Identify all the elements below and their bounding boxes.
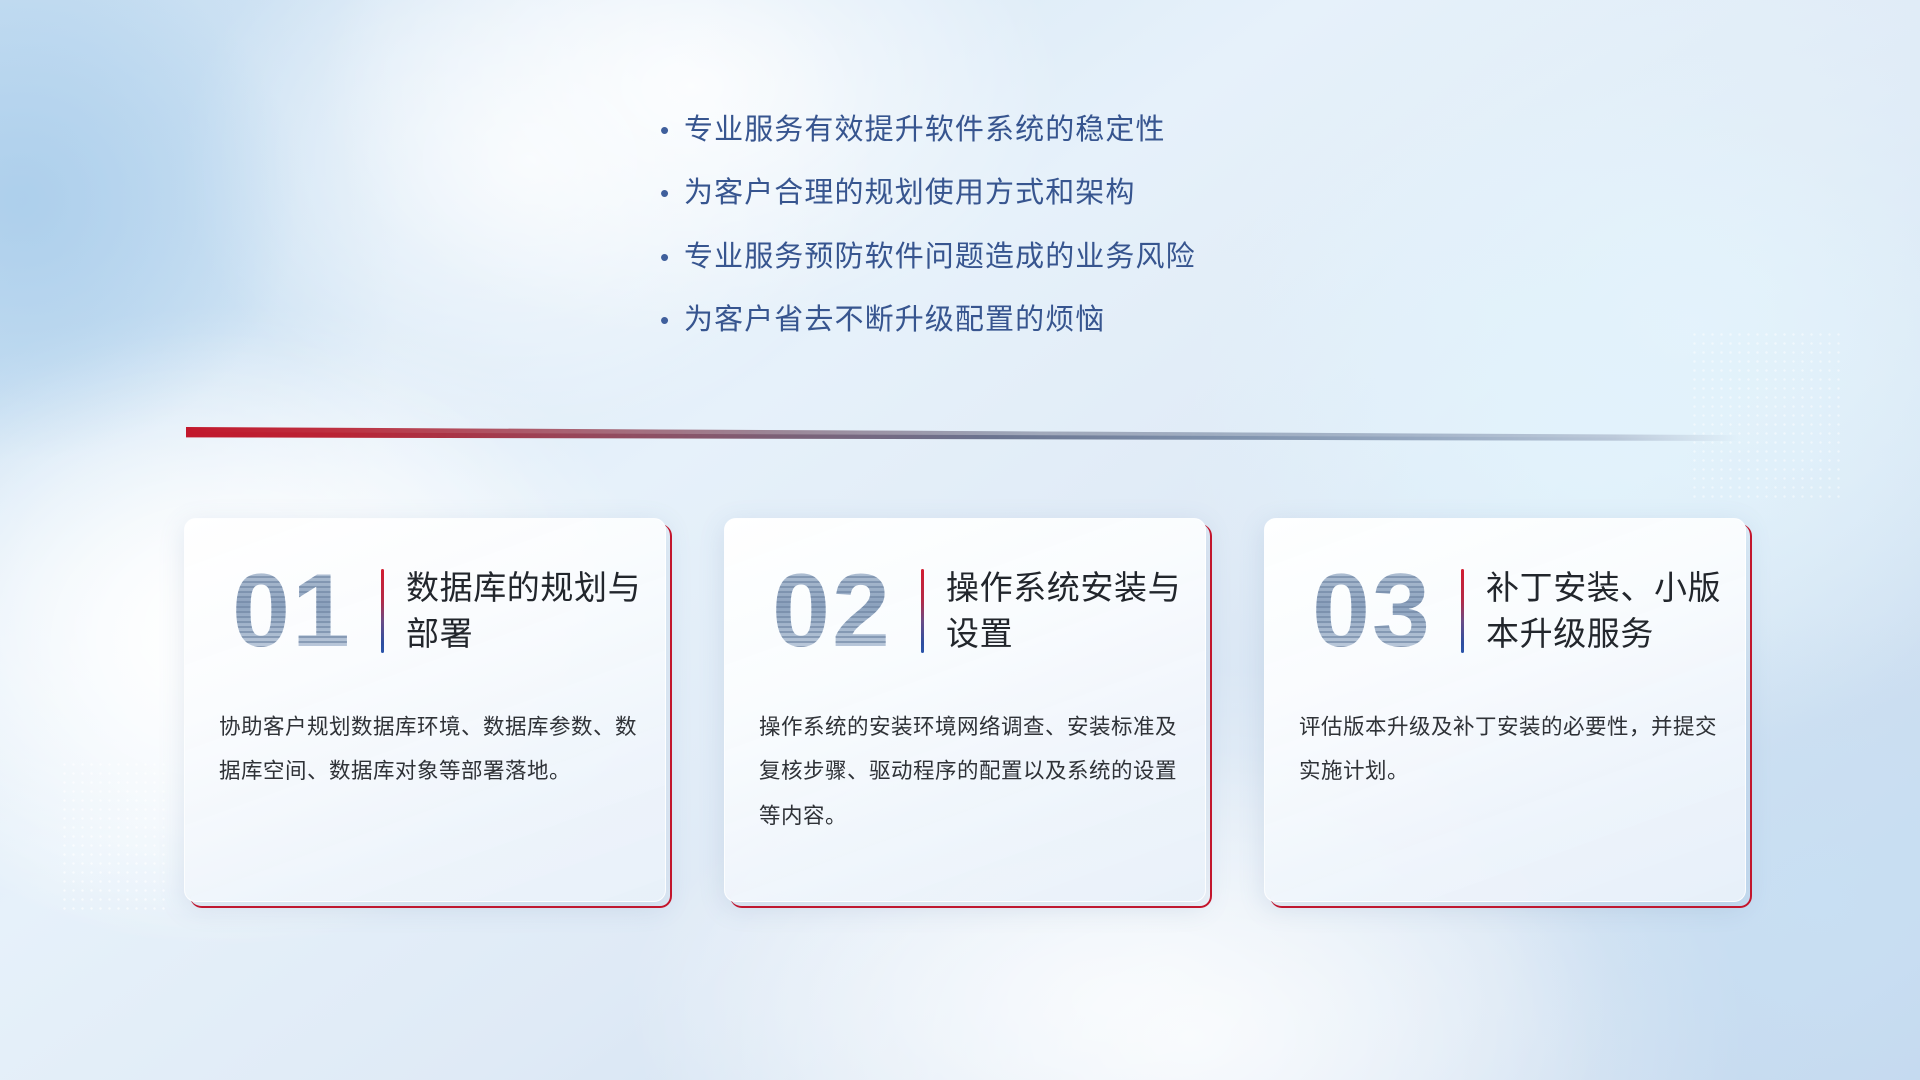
gradient-divider-line bbox=[186, 427, 1739, 441]
decorative-dot-texture bbox=[1690, 330, 1840, 500]
list-item: • 专业服务预防软件问题造成的业务风险 bbox=[660, 239, 1420, 275]
card-title: 操作系统安装与设置 bbox=[946, 565, 1205, 656]
card-header: 02 操作系统安装与设置 bbox=[725, 541, 1205, 681]
bullet-dot-icon: • bbox=[660, 244, 684, 270]
card-description: 操作系统的安装环境网络调查、安装标准及复核步骤、驱动程序的配置以及系统的设置等内… bbox=[759, 705, 1177, 838]
card-surface: 02 操作系统安装与设置 操作系统的安装环境网络调查、安装标准及复核步骤、驱动程… bbox=[724, 518, 1206, 902]
bullet-text: 为客户合理的规划使用方式和架构 bbox=[684, 175, 1136, 211]
card-number: 03 bbox=[1287, 551, 1457, 671]
list-item: • 为客户合理的规划使用方式和架构 bbox=[660, 175, 1420, 211]
service-card-03[interactable]: 03 补丁安装、小版本升级服务 评估版本升级及补丁安装的必要性，并提交实施计划。 bbox=[1264, 518, 1752, 908]
card-header: 03 补丁安装、小版本升级服务 bbox=[1265, 541, 1745, 681]
service-card-01[interactable]: 01 数据库的规划与部署 协助客户规划数据库环境、数据库参数、数据库空间、数据库… bbox=[184, 518, 672, 908]
bullet-text: 为客户省去不断升级配置的烦恼 bbox=[684, 302, 1105, 338]
bullet-dot-icon: • bbox=[660, 307, 684, 333]
benefits-bullet-list: • 专业服务有效提升软件系统的稳定性 • 为客户合理的规划使用方式和架构 • 专… bbox=[660, 112, 1420, 365]
background-glow bbox=[0, 0, 300, 460]
card-divider-icon bbox=[381, 569, 384, 653]
list-item: • 专业服务有效提升软件系统的稳定性 bbox=[660, 112, 1420, 148]
slide-canvas: • 专业服务有效提升软件系统的稳定性 • 为客户合理的规划使用方式和架构 • 专… bbox=[0, 0, 1920, 1080]
card-description: 协助客户规划数据库环境、数据库参数、数据库空间、数据库对象等部署落地。 bbox=[219, 705, 637, 794]
bullet-dot-icon: • bbox=[660, 180, 684, 206]
card-header: 01 数据库的规划与部署 bbox=[185, 541, 665, 681]
card-divider-icon bbox=[921, 569, 924, 653]
list-item: • 为客户省去不断升级配置的烦恼 bbox=[660, 302, 1420, 338]
bullet-text: 专业服务预防软件问题造成的业务风险 bbox=[684, 239, 1196, 275]
bullet-text: 专业服务有效提升软件系统的稳定性 bbox=[684, 112, 1166, 148]
card-number: 01 bbox=[207, 551, 377, 671]
card-title: 数据库的规划与部署 bbox=[406, 565, 665, 656]
card-divider-icon bbox=[1461, 569, 1464, 653]
card-surface: 03 补丁安装、小版本升级服务 评估版本升级及补丁安装的必要性，并提交实施计划。 bbox=[1264, 518, 1746, 902]
card-description: 评估版本升级及补丁安装的必要性，并提交实施计划。 bbox=[1299, 705, 1717, 794]
service-card-list: 01 数据库的规划与部署 协助客户规划数据库环境、数据库参数、数据库空间、数据库… bbox=[184, 518, 1754, 918]
decorative-dot-texture bbox=[60, 760, 170, 910]
card-surface: 01 数据库的规划与部署 协助客户规划数据库环境、数据库参数、数据库空间、数据库… bbox=[184, 518, 666, 902]
bullet-dot-icon: • bbox=[660, 117, 684, 143]
card-title: 补丁安装、小版本升级服务 bbox=[1486, 565, 1745, 656]
card-number: 02 bbox=[747, 551, 917, 671]
service-card-02[interactable]: 02 操作系统安装与设置 操作系统的安装环境网络调查、安装标准及复核步骤、驱动程… bbox=[724, 518, 1212, 908]
